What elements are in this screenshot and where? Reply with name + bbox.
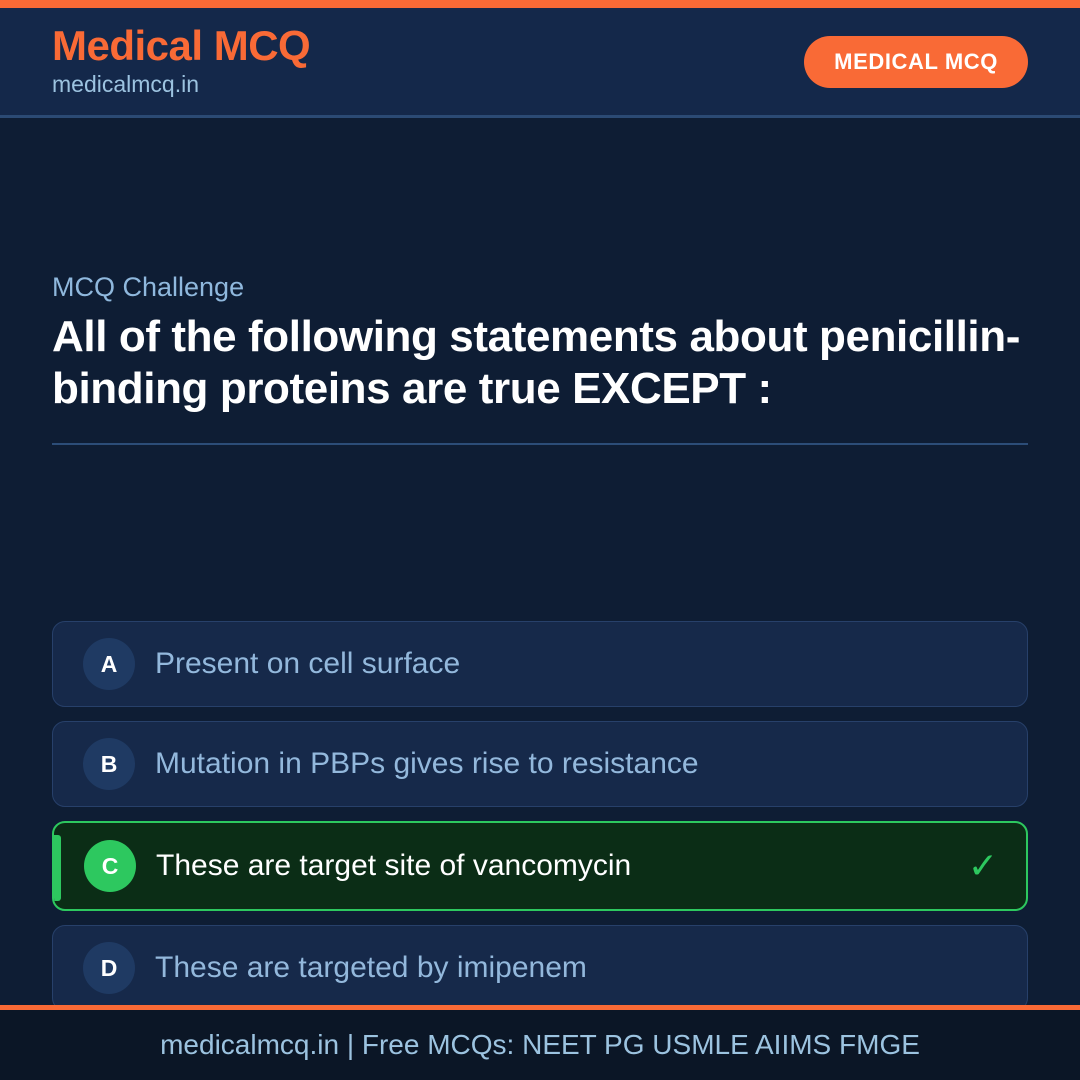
- option-badge-b: B: [83, 738, 135, 790]
- question-zone: MCQ Challenge All of the following state…: [52, 271, 1028, 445]
- main-content: MCQ Challenge All of the following state…: [0, 121, 1080, 1005]
- option-badge-a: A: [83, 638, 135, 690]
- brand-subtitle: medicalmcq.in: [52, 70, 310, 100]
- option-text-d: These are targeted by imipenem: [155, 950, 999, 986]
- option-text-c: These are target site of vancomycin: [156, 848, 952, 884]
- brand-block: Medical MCQ medicalmcq.in: [52, 24, 310, 100]
- option-badge-c: C: [84, 840, 136, 892]
- question-divider: [52, 443, 1028, 445]
- option-badge-d: D: [83, 942, 135, 994]
- footer-text: medicalmcq.in | Free MCQs: NEET PG USMLE…: [160, 1029, 920, 1061]
- option-row-c[interactable]: C These are target site of vancomycin ✓: [52, 821, 1028, 911]
- option-row-a[interactable]: A Present on cell surface ✓: [52, 621, 1028, 707]
- header-badge[interactable]: MEDICAL MCQ: [804, 36, 1028, 88]
- page-header: Medical MCQ medicalmcq.in MEDICAL MCQ: [0, 8, 1080, 118]
- option-text-a: Present on cell surface: [155, 646, 999, 682]
- options-list: A Present on cell surface ✓ B Mutation i…: [52, 621, 1028, 1025]
- option-row-d[interactable]: D These are targeted by imipenem ✓: [52, 925, 1028, 1011]
- option-text-b: Mutation in PBPs gives rise to resistanc…: [155, 746, 999, 782]
- page-footer: medicalmcq.in | Free MCQs: NEET PG USMLE…: [0, 1005, 1080, 1080]
- top-accent-bar: [0, 0, 1080, 8]
- correct-accent-bar: [54, 835, 61, 901]
- check-icon: ✓: [968, 848, 998, 884]
- question-text: All of the following statements about pe…: [52, 311, 1028, 415]
- option-row-b[interactable]: B Mutation in PBPs gives rise to resista…: [52, 721, 1028, 807]
- brand-title: Medical MCQ: [52, 24, 310, 68]
- question-kicker: MCQ Challenge: [52, 271, 1028, 303]
